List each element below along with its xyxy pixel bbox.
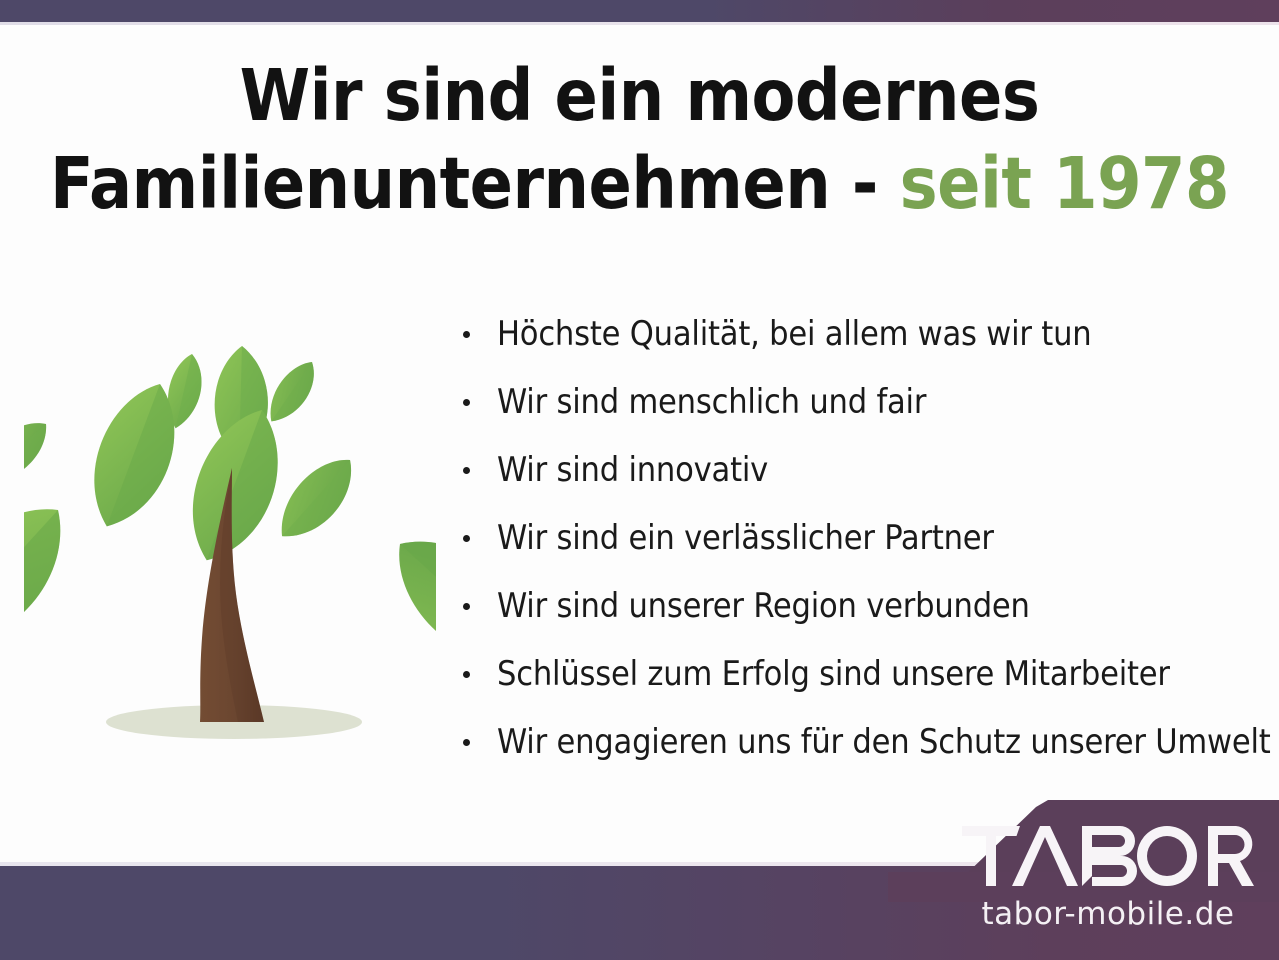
top-accent-bar [0,0,1279,22]
logo-letter-r [1208,826,1254,886]
page-title-line-2: Familienunternehmen - seit 1978 [0,140,1279,228]
list-item-label: Schlüssel zum Erfolg sind unsere Mitarbe… [497,655,1270,693]
leaf-lower-left-large [24,483,91,671]
list-item: Wir sind menschlich und fair [458,368,1270,436]
list-item: Schlüssel zum Erfolg sind unsere Mitarbe… [458,640,1270,708]
leaf-far-right [265,447,368,551]
list-item: Wir engagieren uns für den Schutz unsere… [458,708,1270,776]
tree-logo-illustration [24,332,436,757]
logo-tagline[interactable]: tabor-mobile.de [962,896,1254,932]
bullet-dot-icon [463,535,470,542]
bullet-dot-icon [463,399,470,406]
logo-letter-t [962,826,1020,886]
list-item-label: Wir engagieren uns für den Schutz unsere… [497,723,1271,761]
bullet-dot-icon [463,739,470,746]
page-title-line-1: Wir sind ein modernes [0,52,1279,140]
bullet-dot-icon [463,603,470,610]
list-item-label: Wir sind innovativ [497,451,1270,489]
list-item: Wir sind unserer Region verbunden [458,572,1270,640]
list-item-label: Wir sind ein verlässlicher Partner [497,519,1270,557]
tabor-wordmark-logo[interactable] [962,826,1254,886]
leaf-lower-right-large [374,512,436,691]
list-item: Wir sind innovativ [458,436,1270,504]
list-item-label: Wir sind unserer Region verbunden [497,587,1270,625]
leaf-upper-right-large [170,397,301,574]
bullet-dot-icon [463,467,470,474]
bullet-dot-icon [463,671,470,678]
list-item: Wir sind ein verlässlicher Partner [458,504,1270,572]
leaf-far-left-small [24,411,59,497]
logo-letter-b-bowls [1092,826,1137,886]
page-title-accent: seit 1978 [900,142,1229,225]
leaf-top-right-small [259,354,326,430]
list-item-label: Höchste Qualität, bei allem was wir tun [497,315,1270,353]
page-title-line-2-plain: Familienunternehmen - [50,142,900,225]
logo-letter-b [1082,826,1092,886]
page-title: Wir sind ein modernes Familienunternehme… [0,52,1279,228]
slide-canvas: Wir sind ein modernes Familienunternehme… [0,0,1279,960]
logo-letter-o [1137,826,1197,886]
top-accent-bar-edge [0,22,1279,25]
logo-letter-a [1012,826,1078,886]
value-bullet-list: Höchste Qualität, bei allem was wir tun … [458,300,1270,776]
list-item-label: Wir sind menschlich und fair [497,383,1270,421]
bullet-dot-icon [463,331,470,338]
list-item: Höchste Qualität, bei allem was wir tun [458,300,1270,368]
